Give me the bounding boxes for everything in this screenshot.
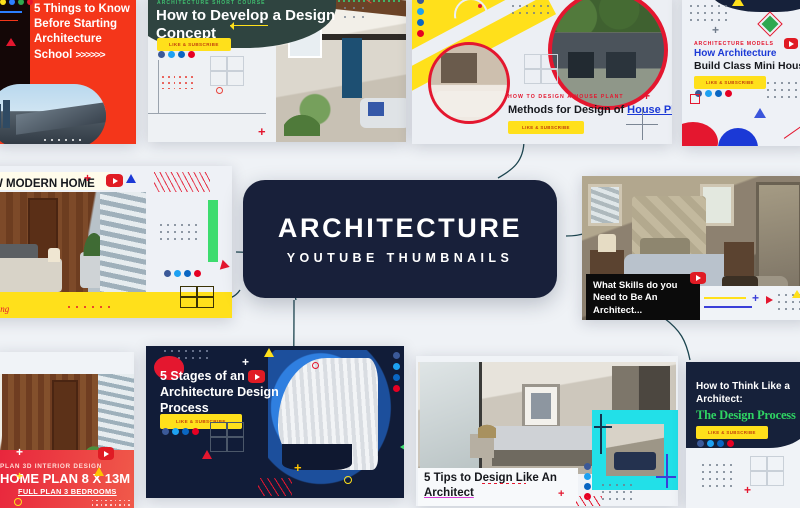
like-subscribe-button[interactable]: LIKE & SUBSCRIBE — [508, 121, 584, 134]
thumbnail-card-think-like-architect[interactable]: How to Think Like a Architect: The Desig… — [686, 362, 800, 508]
card-title-main: NEW MODERN HOME — [0, 178, 95, 190]
pinterest-icon[interactable] — [188, 51, 195, 58]
twitter-icon[interactable] — [168, 51, 175, 58]
card-kicker: ARCHITECTURE SHORT COURSE — [157, 0, 266, 6]
decor-crosshair — [626, 108, 658, 140]
linkedin-icon[interactable] — [182, 428, 189, 435]
decor-slashes — [154, 172, 210, 192]
triangle-icon-yellow — [94, 467, 104, 476]
decor-blue-circle — [718, 128, 758, 146]
decor-arrow — [230, 25, 268, 26]
facebook-icon[interactable] — [584, 463, 591, 470]
building-photo — [278, 358, 378, 470]
decor-dots — [512, 0, 549, 14]
decor-strip: + — [700, 286, 800, 320]
thumbnail-card-mini-houses[interactable]: + ARCHITECTURE MODELS How Architecture B… — [682, 0, 800, 146]
facebook-icon[interactable] — [393, 352, 400, 359]
floorplan-grid-icon — [524, 54, 558, 84]
twitter-icon[interactable] — [172, 428, 179, 435]
thumbnail-card-what-skills[interactable]: + What Skills do you Need to Be An Archi… — [582, 176, 800, 320]
plus-icon-yellow: + — [16, 470, 120, 482]
triangle-icon — [732, 0, 744, 6]
signature-text: Angel D. Vloguing — [0, 304, 9, 314]
triangle-icon-blue — [126, 174, 136, 183]
decor-yellow-ring — [344, 476, 352, 484]
title-caption: 5 Tips to Design Like An Architect — [418, 468, 578, 506]
decor-red-dot — [478, 4, 482, 8]
twitter-icon[interactable] — [174, 270, 181, 277]
plus-icon: + — [712, 24, 719, 36]
triangle-icon-blue — [754, 108, 766, 118]
plus-icon: + — [242, 356, 249, 368]
linkedin-icon[interactable] — [393, 374, 400, 381]
facebook-icon[interactable] — [697, 440, 704, 447]
plus-icon: + — [558, 489, 564, 500]
youtube-play-icon[interactable] — [690, 272, 706, 284]
twitter-icon[interactable] — [705, 90, 712, 97]
decor-footer-dots — [68, 306, 110, 308]
twitter-icon[interactable] — [707, 440, 714, 447]
card-kicker: HOW TO DESIGN A HOUSE PLANT — [508, 94, 624, 100]
twitter-icon[interactable] — [417, 8, 424, 15]
bedroom-photo-circle — [428, 42, 510, 124]
youtube-play-icon[interactable] — [248, 370, 265, 383]
center-title-badge: ARCHITECTURE YOUTUBE THUMBNAILS — [243, 180, 557, 298]
thumbnail-collage: 5 Things to Know Before Starting Archite… — [0, 0, 800, 500]
like-subscribe-button[interactable]: LIKE & SUBSCRIBE — [157, 38, 231, 51]
badge-subtitle: YOUTUBE THUMBNAILS — [287, 251, 513, 265]
pinterest-icon[interactable] — [194, 270, 201, 277]
linkedin-icon[interactable] — [178, 51, 185, 58]
decor-circle — [14, 498, 22, 506]
card-title-line1: How Architecture — [694, 48, 776, 59]
social-icons[interactable] — [584, 463, 591, 500]
card-subtitle: FULL PLAN 3 BEDROOMS — [18, 487, 117, 496]
cyan-accent-panel — [592, 410, 678, 490]
card-title: 5 Things to Know Before Starting Archite… — [34, 2, 132, 63]
triangle-icon — [6, 38, 16, 46]
decor-dots — [702, 464, 732, 487]
card-title: What Skills do you Need to Be An Archite… — [593, 280, 697, 317]
card-kicker: ARCHITECTURE MODELS — [694, 41, 774, 47]
thumbnail-card-five-things[interactable]: 5 Things to Know Before Starting Archite… — [0, 0, 136, 144]
card-title-line2: Build Class Mini Houses — [694, 60, 800, 72]
decor-dashed-line — [482, 483, 526, 484]
triangle-icon-green — [400, 442, 404, 452]
thumbnail-card-home-plan[interactable]: PLAN 3D INTERIOR DESIGN HOME PLAN 8 X 13… — [0, 352, 134, 508]
facebook-icon[interactable] — [164, 270, 171, 277]
card-title-bar: VATING NEW MODERN HOME — [0, 172, 110, 190]
decor-red-dots — [162, 76, 193, 89]
twitter-icon[interactable] — [393, 363, 400, 370]
triangle-icon-yellow — [264, 348, 274, 357]
badge-title: ARCHITECTURE — [278, 213, 522, 244]
bedroom-photo — [0, 192, 146, 296]
social-icons[interactable] — [697, 440, 734, 447]
plus-icon: + — [16, 446, 23, 458]
decor-ring — [216, 87, 223, 94]
decor-dots — [602, 484, 632, 500]
plus-icon-yellow: + — [294, 461, 302, 474]
pinterest-icon[interactable] — [393, 385, 400, 392]
pinterest-icon[interactable] — [725, 90, 732, 97]
youtube-play-icon[interactable] — [784, 38, 798, 49]
social-icons[interactable] — [158, 51, 195, 58]
social-icons[interactable] — [164, 270, 201, 277]
decor-dots-top — [690, 0, 727, 21]
decor-dots-bottom — [767, 82, 800, 98]
triangle-icon-red — [216, 260, 229, 273]
decor-dots — [344, 0, 364, 18]
linkedin-icon[interactable] — [184, 270, 191, 277]
social-icons[interactable] — [695, 90, 732, 97]
linkedin-icon[interactable] — [715, 90, 722, 97]
decor-dots — [160, 224, 197, 240]
floorplan-grid-icon — [180, 286, 214, 316]
decor-red-circle — [682, 122, 718, 146]
plus-icon: + — [258, 125, 266, 138]
thumbnail-card-five-stages[interactable]: 5 Stages of an Architecture Design Proce… — [146, 346, 404, 498]
twitter-icon[interactable] — [584, 473, 591, 480]
linkedin-icon[interactable] — [417, 19, 424, 26]
linkedin-icon[interactable] — [717, 440, 724, 447]
thumbnail-card-house-planning[interactable]: HOW TO DESIGN A HOUSE PLANT Methods for … — [412, 0, 672, 144]
facebook-icon[interactable] — [158, 51, 165, 58]
thumbnail-card-new-modern-home[interactable]: VATING NEW MODERN HOME + Angel D. Vlogui… — [0, 166, 232, 318]
pinterest-icon[interactable] — [192, 428, 199, 435]
youtube-play-icon[interactable] — [106, 174, 123, 187]
decor-left-strip — [0, 0, 30, 93]
plus-icon: + — [643, 90, 650, 102]
decor-dots — [44, 139, 81, 141]
youtube-play-icon[interactable] — [98, 447, 114, 460]
plus-icon: + — [744, 484, 751, 496]
like-subscribe-button[interactable]: LIKE & SUBSCRIBE — [696, 426, 768, 439]
triangle-icon-yellow — [792, 290, 800, 298]
card-title-line2: The Design Process — [696, 408, 796, 423]
triangle-icon-red — [202, 450, 212, 459]
decor-diamond — [762, 16, 779, 33]
social-icons-vertical[interactable] — [393, 352, 400, 392]
card-title: 5 Stages of an Architecture Design Proce… — [160, 368, 290, 416]
decor-dots — [92, 500, 130, 506]
decor-red-line — [784, 124, 800, 139]
plus-icon: + — [84, 172, 91, 184]
building-photo — [0, 84, 106, 144]
decor-slashes — [576, 496, 602, 506]
arrow-glyphs: >>>>>> — [76, 50, 105, 61]
pinterest-icon[interactable] — [727, 440, 734, 447]
thumbnail-card-design-concept[interactable]: ARCHITECTURE SHORT COURSE How to Develop… — [148, 0, 406, 142]
facebook-icon[interactable] — [417, 0, 424, 4]
decor-red-ring — [312, 362, 319, 369]
social-icons[interactable] — [417, 0, 424, 37]
facebook-icon[interactable] — [162, 428, 169, 435]
floorplan-grid-icon — [750, 456, 784, 486]
pinterest-icon[interactable] — [417, 30, 424, 37]
decor-green-bar — [208, 200, 218, 262]
play-triangle-icon — [766, 296, 773, 304]
thumbnail-card-five-tips[interactable]: 5 Tips to Design Like An Architect + — [416, 356, 678, 506]
card-title-line1: How to Think Like a Architect: — [696, 380, 800, 406]
decor-square — [690, 94, 700, 104]
social-icons[interactable] — [162, 428, 199, 435]
decor-slashes — [258, 478, 292, 496]
card-title: 5 Tips to Design Like An Architect — [424, 471, 574, 500]
title-overlay: What Skills do you Need to Be An Archite… — [586, 274, 700, 320]
linkedin-icon[interactable] — [584, 483, 591, 490]
floorplan-grid-icon — [210, 56, 244, 86]
card-title-underline: Architect — [424, 487, 474, 499]
floorplan-grid-icon — [210, 422, 244, 452]
plus-icon: + — [752, 292, 759, 304]
like-subscribe-button[interactable]: LIKE & SUBSCRIBE — [694, 76, 766, 89]
